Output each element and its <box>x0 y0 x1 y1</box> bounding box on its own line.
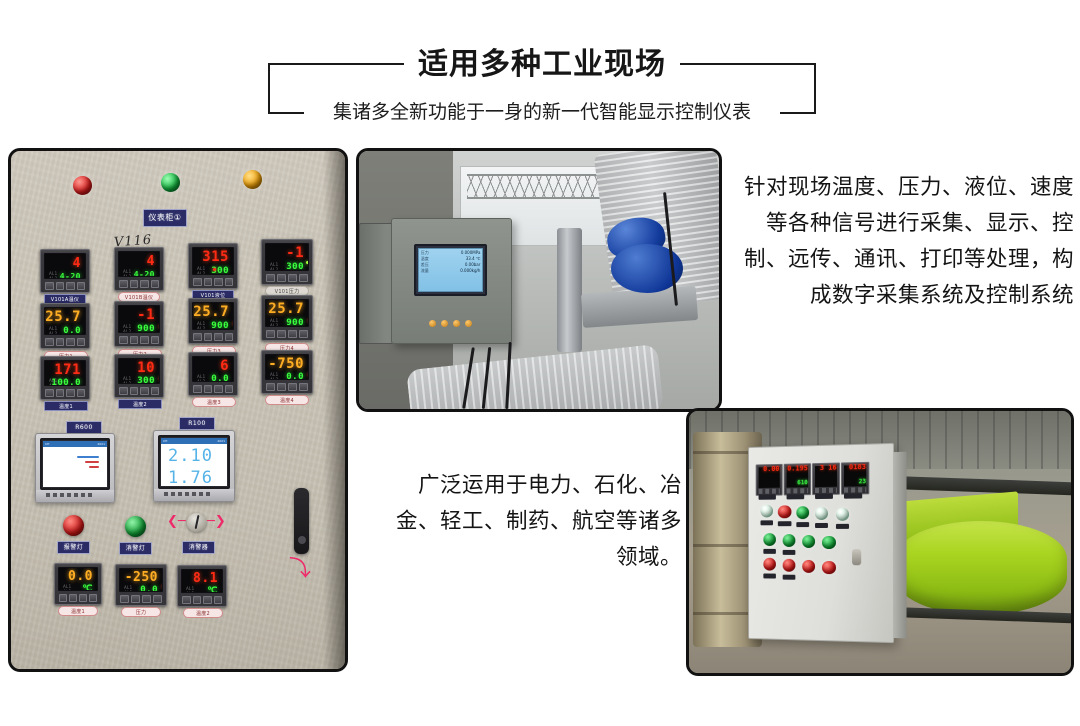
meter-tag-label: 温度4 <box>265 395 309 405</box>
cabinet-name-tag: 仪表柜① <box>143 209 187 227</box>
plant-red-button[interactable] <box>803 560 816 573</box>
meter-keypad <box>266 383 308 391</box>
meter-keypad <box>193 278 233 286</box>
trend-line-2 <box>85 461 99 463</box>
meter-sv: 900 <box>211 322 229 330</box>
meter-tag-label: 温度3 <box>192 397 236 407</box>
meter-annunciator: AL1AL2 <box>123 377 131 384</box>
cabinet-meter: 171 100.0 AL1AL2 <box>40 356 90 400</box>
recorder-bar-right: 2021 <box>97 442 105 446</box>
meter-sv: 610 <box>797 480 808 486</box>
cabinet-photo-inner: 仪表柜① V116 4 4-20 AL1AL2 V101A温仪 4 4-20 A… <box>11 151 345 669</box>
meter-screen: 25.7 900 AL1AL2 <box>192 302 234 330</box>
meter-keypad <box>119 336 159 344</box>
page-title-text: 适用多种工业现场 <box>404 48 680 82</box>
plant-button-tag <box>783 575 796 580</box>
meter-pv: 25.7 <box>45 310 81 324</box>
rotate-arrow-icon: ⤵ <box>289 559 311 581</box>
meter-keypad <box>120 595 162 603</box>
plant-meter-tag <box>787 495 804 500</box>
field-controller-enclosure: 压力 0.000MPa 温度 33.4 ℃ 差压 0.00bar 流量 <box>391 218 512 344</box>
lcd-row: 流量 0.000kg/h <box>421 268 481 274</box>
cabinet-meter: 315 300 AL1AL2 <box>188 243 238 289</box>
plant-meter-tag <box>845 494 863 499</box>
meter-tag-label: 温度1 <box>44 401 88 411</box>
plant-red-button[interactable] <box>783 559 796 572</box>
cabinet-bottom-meter: 0.0 ℃ AL1AL2 <box>54 563 102 605</box>
arrow-right-icon: ─❯ <box>207 515 226 528</box>
meter-pv: 6 <box>220 359 229 373</box>
plant-red-button[interactable] <box>763 558 776 570</box>
cabinet-meter: 25.7 900 AL1AL2 <box>188 298 238 344</box>
meter-sv: 900 <box>286 319 304 327</box>
meter-sv: ℃ <box>207 587 218 593</box>
meter-alarm-led <box>159 325 160 328</box>
page-subtitle: 集诸多全新功能于一身的新一代智能显示控制仪表 <box>268 100 816 124</box>
plant-meter: 0183 23 <box>842 462 870 494</box>
plant-green-pressure-vessel <box>895 521 1067 615</box>
meter-keypad <box>45 389 85 397</box>
trend-line-3 <box>89 466 99 468</box>
meter-annunciator: AL1AL2 <box>49 327 57 335</box>
meter-pv: -1 <box>286 246 304 260</box>
recorder-screen: CH2021 <box>42 440 108 488</box>
meter-sv: 300 <box>137 377 155 384</box>
plant-lamp-tag <box>816 523 829 528</box>
meter-annunciator: AL1AL2 <box>49 379 57 386</box>
cabinet-lamp-red <box>73 176 92 195</box>
plant-pilot-lamp <box>797 506 810 519</box>
plant-green-button[interactable] <box>783 534 796 547</box>
field-enclosure-door <box>359 223 393 344</box>
alarm-lamp-button <box>63 515 84 536</box>
mute-selector-switch[interactable] <box>187 513 206 532</box>
meter-screen: 4 4-20 AL1AL2 <box>44 253 86 279</box>
header-banner: 适用多种工业现场 集诸多全新功能于一身的新一代智能显示控制仪表 <box>268 52 816 124</box>
cabinet-lamp-green <box>161 173 180 192</box>
plant-green-button[interactable] <box>823 536 836 549</box>
recorder-keys <box>164 492 210 496</box>
lcd-row-value: 0.000kg/h <box>460 268 480 274</box>
meter-annunciator: AL1AL2 <box>270 319 278 327</box>
plant-pilot-lamp <box>779 505 792 518</box>
meter-alarm-led <box>162 585 163 588</box>
plant-key-switch[interactable] <box>852 549 861 565</box>
meter-sv: 0.0 <box>140 586 158 592</box>
meter-annunciator: AL1AL2 <box>63 585 71 591</box>
page-title: 适用多种工业现场 <box>268 48 816 82</box>
plant-photo-inner: 0.00 0.195 610 3 16 <box>689 411 1071 673</box>
cabinet-bottom-meter: -250 0.0 AL1AL2 <box>115 564 167 606</box>
mute-selector-label: 消警器 <box>182 541 215 554</box>
meter-tag-label: 温度1 <box>58 606 98 616</box>
recorder-bar-left: CH <box>163 439 167 443</box>
mute-lamp-button <box>125 516 146 537</box>
plant-meter-tag <box>759 495 776 500</box>
meter-keypad <box>182 596 222 604</box>
plant-green-button[interactable] <box>763 533 776 545</box>
recorder-screen: CH2021 2.10 1.76 <box>160 437 228 487</box>
meter-sv: ℃ <box>82 585 93 591</box>
cabinet-side-panel <box>893 452 907 639</box>
meter-annunciator: AL1AL2 <box>49 272 57 279</box>
plant-pilot-lamp <box>836 508 849 521</box>
meter-annunciator: AL1AL2 <box>197 322 205 330</box>
meter-status-led <box>306 261 309 264</box>
recorder-bar-right: 2021 <box>217 439 225 443</box>
meter-annunciator: AL1AL2 <box>123 325 131 333</box>
cabinet-meter: 25.7 0.0 AL1AL2 <box>40 303 90 349</box>
cabinet-meter: 4 4-20 AL1AL2 <box>40 249 90 293</box>
recorder-value-2: 1.76 <box>161 466 227 487</box>
meter-screen: 8.1 ℃ AL1AL2 <box>181 569 223 593</box>
arrow-left-icon: ❮─ <box>167 515 186 528</box>
cabinet-meter: -1 300 AL1AL2 <box>261 239 313 285</box>
cabinet-edge-shadow <box>323 151 345 669</box>
meter-annunciator: AL1AL2 <box>197 375 205 382</box>
meter-pv: 0.195 <box>787 466 808 473</box>
plant-button-tag <box>783 550 796 555</box>
cabinet-meter: -1 900 AL1AL2 <box>114 301 164 347</box>
meter-sv: 4-20 <box>60 273 81 279</box>
poster-root: 适用多种工业现场 集诸多全新功能于一身的新一代智能显示控制仪表 仪表柜① V11… <box>0 0 1080 726</box>
cabinet-door-handle[interactable] <box>294 488 309 554</box>
meter-pv: 315 <box>202 250 229 264</box>
meter-screen: 6 0.0 AL1AL2 <box>192 356 234 382</box>
paragraph-middle: 广泛运用于电力、石化、冶金、轻工、制药、航空等诸多领域。 <box>386 468 682 576</box>
meter-alarm-led <box>308 373 309 376</box>
meter-keypad <box>119 387 159 395</box>
meter-pv: 3 16 <box>820 465 837 472</box>
meter-keypad <box>59 594 97 602</box>
meter-annunciator: AL1AL2 <box>197 267 205 275</box>
meter-annunciator: AL1AL2 <box>123 270 131 277</box>
meter-pv: 25.7 <box>268 302 304 316</box>
meter-keypad <box>193 333 233 341</box>
meter-tag-label: 压力 <box>121 607 161 617</box>
paragraph-right: 针对现场温度、压力、液位、速度等各种信号进行采集、显示、控制、远传、通讯、打印等… <box>738 170 1074 314</box>
cabinet-meter: 4 4-20 AL1AL2 <box>114 247 164 291</box>
mute-lamp-label: 消警灯 <box>119 542 152 555</box>
meter-sv: 0.0 <box>211 375 229 382</box>
recorder-keypad <box>154 489 234 501</box>
meter-keypad <box>759 488 780 493</box>
meter-pv: 8.1 <box>193 572 218 585</box>
meter-pv: 4 <box>73 257 81 270</box>
recorder-bar-left: CH <box>45 442 49 446</box>
meter-keypad <box>193 385 233 393</box>
plant-lamp-tag <box>779 521 792 526</box>
cabinet-bottom-meter: 8.1 ℃ AL1AL2 <box>177 565 227 607</box>
field-mounting-post <box>557 228 582 352</box>
meter-screen: -1 900 AL1AL2 <box>118 305 160 333</box>
plant-button-tag <box>763 549 776 554</box>
meter-screen: -1 300 AL1AL2 <box>265 243 309 271</box>
recorder-tag: R100 <box>179 417 215 430</box>
plant-lamp-tag <box>836 523 849 528</box>
meter-sv: 300 <box>286 263 304 271</box>
photo-instrument-cabinet: 仪表柜① V116 4 4-20 AL1AL2 V101A温仪 4 4-20 A… <box>8 148 348 672</box>
plant-red-button[interactable] <box>823 561 836 574</box>
plant-pilot-lamp <box>816 507 829 520</box>
recorder-value-1: 2.10 <box>161 444 227 466</box>
meter-keypad <box>45 338 85 346</box>
meter-sv: 4-20 <box>134 271 155 277</box>
meter-pv: 0.0 <box>68 570 93 583</box>
meter-alarm-led <box>233 322 234 325</box>
plant-button-tag <box>763 573 776 578</box>
meter-keypad <box>266 274 308 282</box>
meter-pv: 25.7 <box>193 305 229 319</box>
plant-lamp-tag <box>797 522 810 527</box>
meter-keypad <box>787 488 808 493</box>
meter-screen: 171 100.0 AL1AL2 <box>44 360 86 386</box>
meter-keypad <box>45 282 85 290</box>
cabinet-meter: -750 0.0 AL1AL2 <box>261 350 313 394</box>
meter-screen: -750 0.0 AL1AL2 <box>265 354 309 380</box>
meter-screen: 25.7 0.0 AL1AL2 <box>44 307 86 335</box>
meter-pv: -750 <box>268 357 304 371</box>
meter-annunciator: AL1AL2 <box>270 263 278 271</box>
photo-plant-skid: 0.00 0.195 610 3 16 <box>686 408 1074 676</box>
photo-field-transmitter: 压力 0.000MPa 温度 33.4 ℃ 差压 0.00bar 流量 <box>356 148 722 412</box>
alarm-lamp-label: 报警灯 <box>57 541 90 554</box>
meter-pv: -1 <box>137 308 155 322</box>
plant-control-cabinet: 0.00 0.195 610 3 16 <box>748 443 894 643</box>
plant-lamp-tag <box>760 520 773 525</box>
meter-pv: 171 <box>54 363 81 377</box>
plant-meter: 3 16 <box>813 463 840 495</box>
meter-pv: 0183 <box>849 464 866 471</box>
meter-sv: 23 <box>859 479 866 485</box>
plant-meter-tag <box>816 494 833 499</box>
meter-alarm-led <box>159 377 160 380</box>
meter-sv: 900 <box>137 325 155 333</box>
paperless-recorder: CH2021 2.10 1.76 <box>153 430 235 502</box>
meter-screen: 315 300 AL1AL2 <box>192 247 234 275</box>
meter-alarm-led <box>213 268 216 271</box>
cabinet-meter: 6 0.0 AL1AL2 <box>188 352 238 396</box>
meter-annunciator: AL1AL2 <box>186 587 194 593</box>
field-controller-buttons[interactable] <box>414 318 488 329</box>
meter-pv: -250 <box>125 571 158 584</box>
meter-tag-label: 温度2 <box>118 399 162 409</box>
plant-meter: 0.195 610 <box>784 464 811 495</box>
recorder-keypad <box>36 490 114 502</box>
field-photo-inner: 压力 0.000MPa 温度 33.4 ℃ 差压 0.00bar 流量 <box>359 151 719 409</box>
recorder-keys <box>46 493 92 497</box>
cabinet-meter: 10 300 AL1AL2 <box>114 354 164 398</box>
meter-pv: 0.00 <box>763 466 779 473</box>
meter-tag-label: 温度2 <box>183 608 223 618</box>
meter-screen: 0.0 ℃ AL1AL2 <box>58 567 98 591</box>
meter-sv: 0.0 <box>63 327 81 335</box>
meter-screen: 4 4-20 AL1AL2 <box>118 251 160 277</box>
field-roof-truss <box>467 174 611 199</box>
meter-keypad <box>266 330 308 338</box>
field-controller-screen-bezel: 压力 0.000MPa 温度 33.4 ℃ 差压 0.00bar 流量 <box>414 244 488 296</box>
page-subtitle-text: 集诸多全新功能于一身的新一代智能显示控制仪表 <box>323 100 761 124</box>
meter-sv: 0.0 <box>286 373 304 380</box>
plant-meter: 0.00 <box>756 464 782 495</box>
plant-green-button[interactable] <box>803 535 816 548</box>
trend-line-1 <box>77 456 99 458</box>
paperless-recorder: CH2021 <box>35 433 115 503</box>
meter-screen: -250 0.0 AL1AL2 <box>119 568 163 592</box>
plant-pilot-lamp <box>760 505 773 518</box>
lcd-row-label: 流量 <box>421 268 429 274</box>
meter-annunciator: AL1AL2 <box>270 373 278 380</box>
meter-annunciator: AL1AL2 <box>124 586 132 592</box>
meter-screen: 10 300 AL1AL2 <box>118 358 160 384</box>
meter-keypad <box>816 487 837 492</box>
cabinet-meter: 25.7 900 AL1AL2 <box>261 295 313 341</box>
meter-pv: 4 <box>147 255 155 268</box>
meter-keypad <box>845 487 867 492</box>
meter-screen: 25.7 900 AL1AL2 <box>265 299 309 327</box>
meter-alarm-led <box>308 319 309 322</box>
meter-keypad <box>119 280 159 288</box>
meter-pv: 10 <box>137 361 155 375</box>
recorder-trend-lines <box>43 447 107 468</box>
cabinet-lamp-amber <box>243 170 262 189</box>
field-controller-lcd: 压力 0.000MPa 温度 33.4 ℃ 差压 0.00bar 流量 <box>418 248 484 292</box>
